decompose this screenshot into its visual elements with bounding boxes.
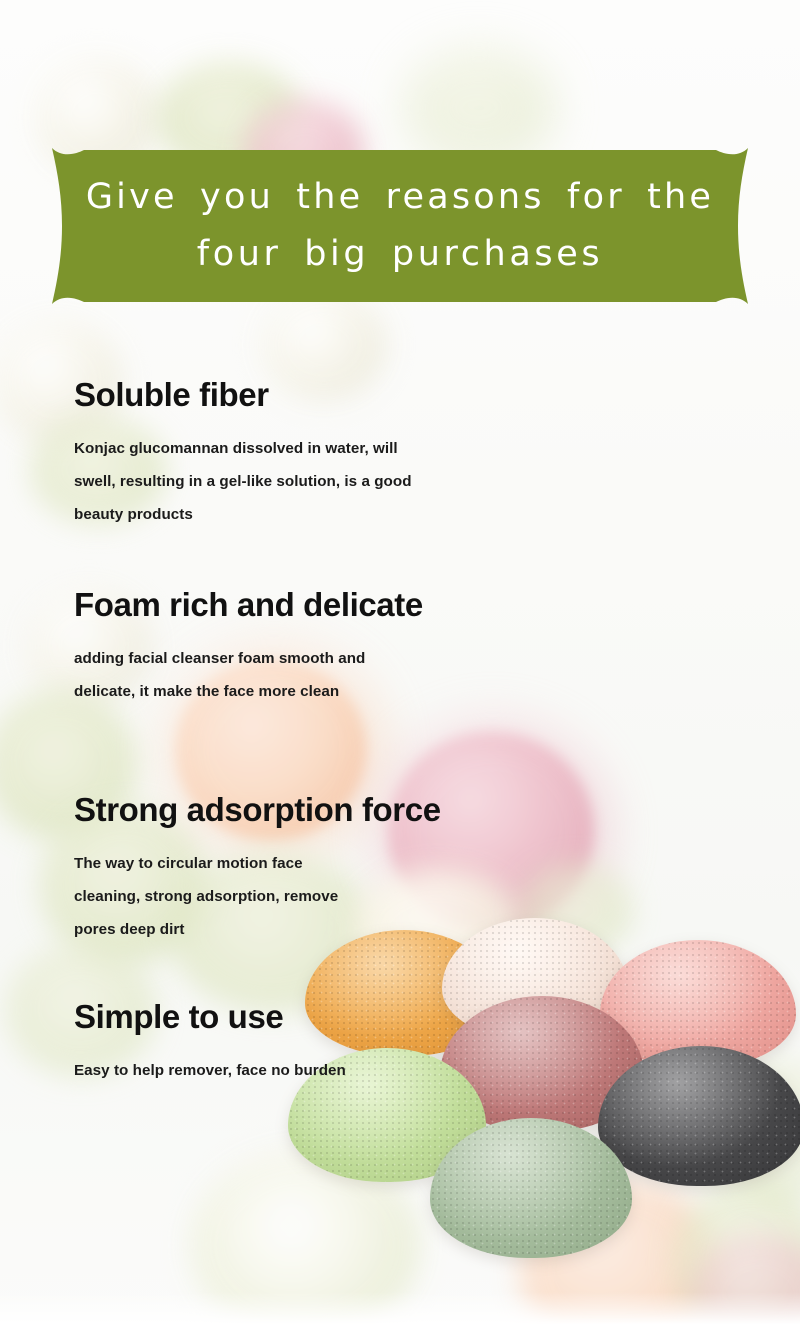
banner-line-1: Give you the reasons for the <box>86 169 714 226</box>
feature-title: Simple to use <box>74 1000 346 1035</box>
infographic-page: Give you the reasons for the four big pu… <box>0 0 800 1338</box>
banner-text-block: Give you the reasons for the four big pu… <box>0 140 800 312</box>
feature-strong-adsorption-force: Strong adsorption force The way to circu… <box>74 793 441 946</box>
feature-body: Easy to help remover, face no burden <box>74 1054 346 1087</box>
feature-body: adding facial cleanser foam smooth and d… <box>74 642 423 708</box>
feature-body: The way to circular motion face cleaning… <box>74 847 441 946</box>
feature-simple-to-use: Simple to use Easy to help remover, face… <box>74 1000 346 1087</box>
header-banner: Give you the reasons for the four big pu… <box>0 140 800 312</box>
feature-soluble-fiber: Soluble fiber Konjac glucomannan dissolv… <box>74 378 412 531</box>
feature-body: Konjac glucomannan dissolved in water, w… <box>74 432 412 531</box>
banner-line-2: four big purchases <box>197 226 603 283</box>
feature-foam-rich-and-delicate: Foam rich and delicate adding facial cle… <box>74 588 423 708</box>
bottom-fade-overlay <box>0 1292 800 1338</box>
feature-title: Foam rich and delicate <box>74 588 423 623</box>
feature-title: Soluble fiber <box>74 378 412 413</box>
feature-title: Strong adsorption force <box>74 793 441 828</box>
